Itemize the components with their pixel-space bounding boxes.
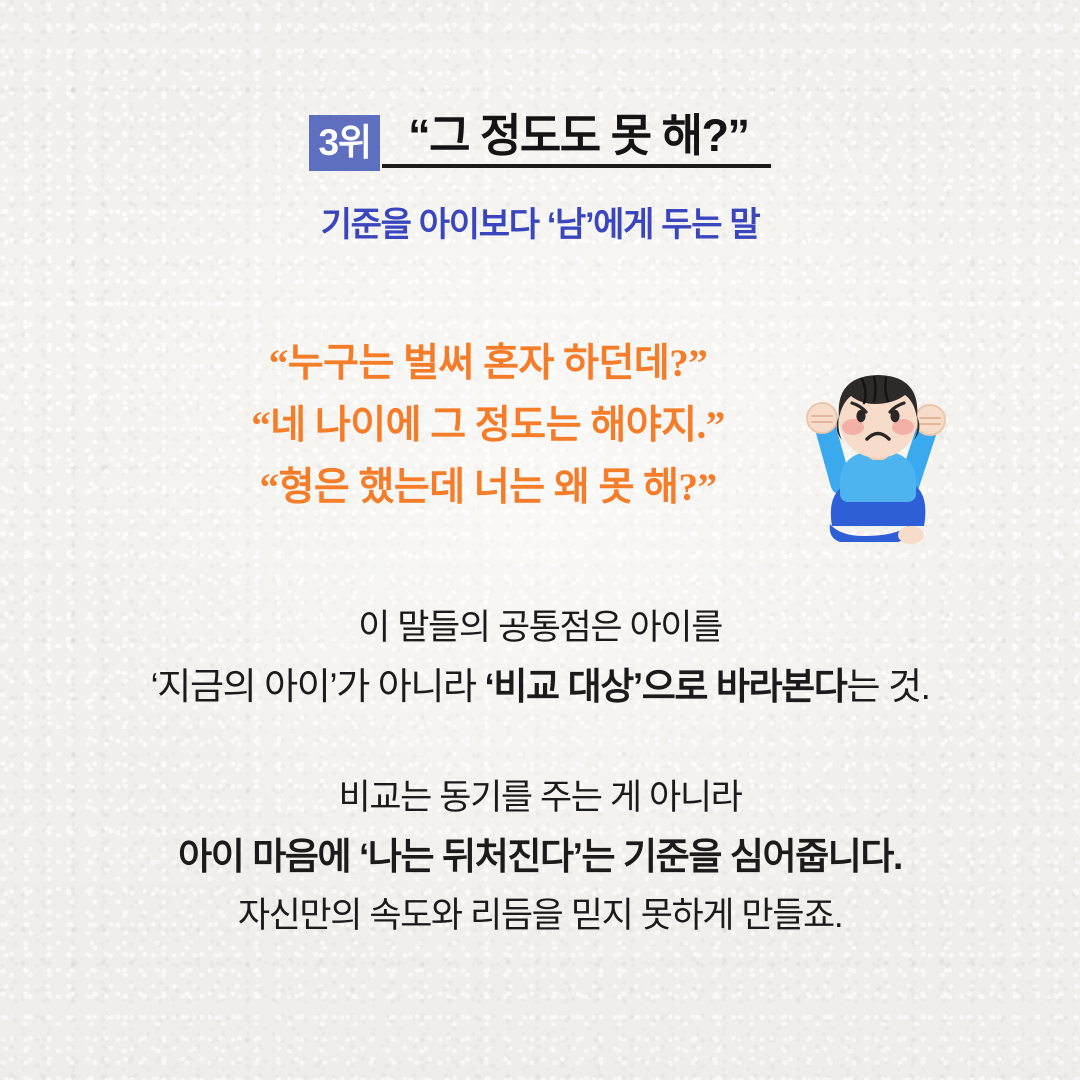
page-title: “그 정도도 못 해?” (408, 112, 748, 159)
social-card: 3위 “그 정도도 못 해?” 기준을 아이보다 ‘남’에게 두는 말 “누구는… (0, 0, 1080, 1080)
page-subtitle: 기준을 아이보다 ‘남’에게 두는 말 (0, 197, 1080, 246)
para1-line-2-part-c: 는 것. (846, 666, 929, 707)
rank-badge: 3위 (309, 115, 380, 171)
sad-boy-raised-fists-icon (778, 358, 978, 558)
para1-line-2-bold: ‘비교 대상’으로 바라본다 (485, 666, 847, 707)
heading-underline: “그 정도도 못 해?” (382, 112, 770, 168)
para2-line-1: 비교는 동기를 주는 게 아니라 (0, 768, 1080, 827)
para1-line-2-part-a: ‘지금의 아이’가 아니라 (150, 666, 484, 707)
para2-line-3: 자신만의 속도와 리듬을 믿지 못하게 만들죠. (0, 886, 1080, 945)
para1-line-1: 이 말들의 공통점은 아이를 (0, 598, 1080, 657)
para1-line-2: ‘지금의 아이’가 아니라 ‘비교 대상’으로 바라본다는 것. (0, 657, 1080, 716)
paragraph-one: 이 말들의 공통점은 아이를 ‘지금의 아이’가 아니라 ‘비교 대상’으로 바… (0, 598, 1080, 716)
paragraph-two: 비교는 동기를 주는 게 아니라 아이 마음에 ‘나는 뒤처진다’는 기준을 심… (0, 768, 1080, 945)
para2-line-2: 아이 마음에 ‘나는 뒤처진다’는 기준을 심어줍니다. (0, 827, 1080, 886)
heading-row: 3위 “그 정도도 못 해?” (0, 112, 1080, 171)
card-content: 3위 “그 정도도 못 해?” 기준을 아이보다 ‘남’에게 두는 말 “누구는… (0, 0, 1080, 1080)
